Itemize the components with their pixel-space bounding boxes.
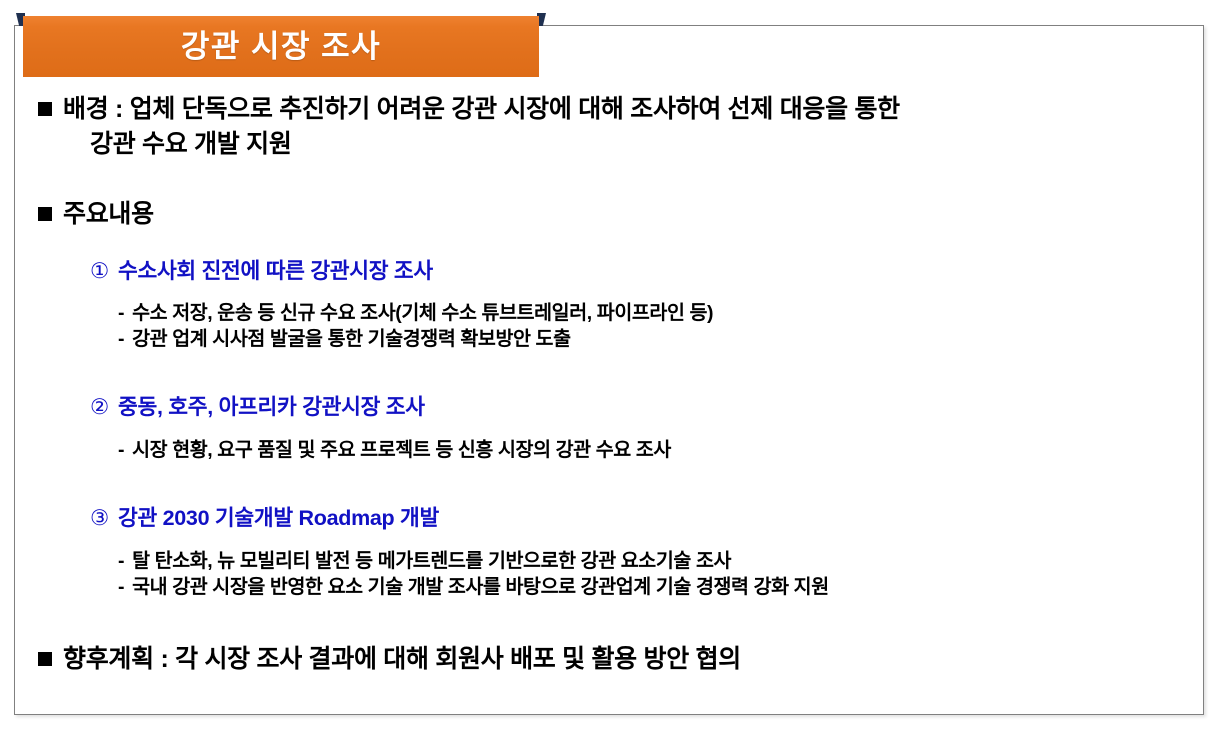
title-banner: 강관 시장 조사 (16, 13, 546, 77)
section-background-continuation: 강관 수요 개발 지원 (38, 127, 292, 162)
spacer (38, 600, 1180, 642)
dash-bullet-icon: - (118, 438, 124, 463)
dash-bullet-icon: - (118, 327, 124, 352)
slide-content: 배경 : 업체 단독으로 추진하기 어려운 강관 시장에 대해 조사하여 선제 … (14, 92, 1204, 712)
square-bullet-icon (38, 102, 52, 116)
dash-bullet-icon: - (118, 549, 124, 574)
content-item-3-heading-text: 강관 2030 기술개발 Roadmap 개발 (118, 505, 439, 533)
section-background-continuation-row: 강관 수요 개발 지원 (38, 127, 1180, 162)
slide-title: 강관 시장 조사 (181, 31, 381, 62)
content-item-3-heading: ③ 강관 2030 기술개발 Roadmap 개발 (90, 505, 1180, 533)
spacer (38, 533, 1180, 549)
section-background: 배경 : 업체 단독으로 추진하기 어려운 강관 시장에 대해 조사하여 선제 … (38, 92, 1180, 127)
spacer (38, 232, 1180, 258)
content-item-1-detail-1: - 수소 저장, 운송 등 신규 수요 조사(기체 수소 튜브트레일러, 파이프… (118, 301, 1180, 326)
content-item-3-detail-2: - 국내 강관 시장을 반영한 요소 기술 개발 조사를 바탕으로 강관업계 기… (118, 575, 1180, 600)
square-bullet-icon (38, 652, 52, 666)
spacer (38, 285, 1180, 301)
section-main-content: 주요내용 (38, 197, 1180, 232)
circled-number-1-icon: ① (90, 258, 109, 286)
content-item-3-detail-1: - 탈 탄소화, 뉴 모빌리티 발전 등 메가트렌드를 기반으로한 강관 요소기… (118, 549, 1180, 574)
content-item-1-heading: ① 수소사회 진전에 따른 강관시장 조사 (90, 258, 1180, 286)
dash-bullet-icon: - (118, 575, 124, 600)
content-item-3-detail-1-text: 탈 탄소화, 뉴 모빌리티 발전 등 메가트렌드를 기반으로한 강관 요소기술 … (132, 549, 731, 574)
dash-bullet-icon: - (118, 301, 124, 326)
content-item-1-detail-1-text: 수소 저장, 운송 등 신규 수요 조사(기체 수소 튜브트레일러, 파이프라인… (132, 301, 713, 326)
spacer (38, 463, 1180, 505)
section-background-label: 배경 : 업체 단독으로 추진하기 어려운 강관 시장에 대해 조사하여 선제 … (63, 92, 1180, 127)
content-item-1-heading-text: 수소사회 진전에 따른 강관시장 조사 (118, 258, 433, 286)
section-future-plan: 향후계획 : 각 시장 조사 결과에 대해 회원사 배포 및 활용 방안 협의 (38, 642, 1180, 677)
content-item-2-heading: ② 중동, 호주, 아프리카 강관시장 조사 (90, 394, 1180, 422)
content-item-1-detail-2: - 강관 업계 시사점 발굴을 통한 기술경쟁력 확보방안 도출 (118, 327, 1180, 352)
circled-number-3-icon: ③ (90, 505, 109, 533)
circled-number-2-icon: ② (90, 394, 109, 422)
content-item-2-detail-1: - 시장 현황, 요구 품질 및 주요 프로젝트 등 신흥 시장의 강관 수요 … (118, 438, 1180, 463)
spacer (38, 422, 1180, 438)
section-main-content-label: 주요내용 (63, 197, 1180, 232)
content-item-3-detail-2-text: 국내 강관 시장을 반영한 요소 기술 개발 조사를 바탕으로 강관업계 기술 … (132, 575, 829, 600)
content-item-1-detail-2-text: 강관 업계 시사점 발굴을 통한 기술경쟁력 확보방안 도출 (132, 327, 571, 352)
spacer (38, 352, 1180, 394)
spacer (38, 161, 1180, 197)
content-item-2-detail-1-text: 시장 현황, 요구 품질 및 주요 프로젝트 등 신흥 시장의 강관 수요 조사 (132, 438, 671, 463)
title-banner-fill: 강관 시장 조사 (23, 16, 539, 77)
square-bullet-icon (38, 207, 52, 221)
content-item-2-heading-text: 중동, 호주, 아프리카 강관시장 조사 (118, 394, 425, 422)
section-future-plan-label: 향후계획 : 각 시장 조사 결과에 대해 회원사 배포 및 활용 방안 협의 (63, 642, 1180, 677)
